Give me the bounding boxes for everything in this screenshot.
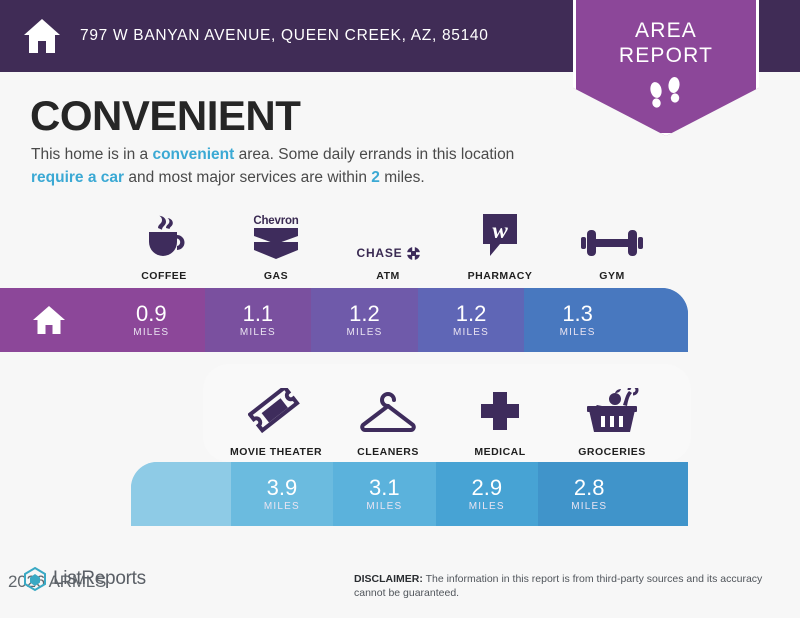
distance-value: 1.2 <box>349 302 380 325</box>
amenity-groceries: GROCERIES <box>556 388 668 458</box>
amenity-label: COFFEE <box>141 270 187 282</box>
coffee-cup-icon <box>138 212 190 260</box>
band-end-spacer-2 <box>640 462 688 526</box>
house-icon <box>32 304 66 336</box>
listreports-logo-text: ListReports <box>53 568 146 590</box>
property-address: 797 W BANYAN AVENUE, QUEEN CREEK, AZ, 85… <box>80 27 489 45</box>
distance-value: 3.9 <box>267 476 298 499</box>
distance-value: 3.1 <box>369 476 400 499</box>
summary-part-2: area. Some daily errands in this locatio… <box>234 146 514 163</box>
movie-ticket-icon <box>248 388 304 436</box>
page-title: CONVENIENT <box>30 92 300 140</box>
area-report-badge: AREA REPORT <box>573 0 759 136</box>
medical-cross-icon <box>477 388 523 436</box>
distance-cell-pharmacy: 1.2 MILES <box>418 288 525 352</box>
amenity-label: GROCERIES <box>578 446 646 458</box>
distance-cell-movie-theater: 3.9 MILES <box>231 462 333 526</box>
amenity-cleaners: CLEANERS <box>332 388 444 458</box>
chevron-logo-icon: Chevron <box>250 212 302 260</box>
amenity-medical: MEDICAL <box>444 388 556 458</box>
disclaimer: DISCLAIMER: The information in this repo… <box>354 572 784 600</box>
band-end-spacer <box>631 288 688 352</box>
dumbbell-icon <box>581 212 643 260</box>
band-start-spacer <box>131 462 231 526</box>
badge-line-2: REPORT <box>619 43 713 68</box>
distance-unit: MILES <box>453 327 489 338</box>
amenity-label: ATM <box>376 270 399 282</box>
coat-hanger-icon <box>357 388 419 436</box>
distance-value: 2.8 <box>574 476 605 499</box>
amenity-label: GAS <box>264 270 288 282</box>
amenity-label: GYM <box>599 270 624 282</box>
amenity-icons-row-2: MOVIE THEATER CLEANERS MEDICAL <box>220 388 668 458</box>
footprints-icon <box>643 77 689 113</box>
house-icon <box>22 17 62 55</box>
summary-part-3: and most major services are within <box>124 169 371 186</box>
amenity-label: CLEANERS <box>357 446 419 458</box>
distance-unit: MILES <box>264 501 300 512</box>
distance-cell-medical: 2.9 MILES <box>436 462 538 526</box>
summary-part-4: miles. <box>380 169 425 186</box>
distance-value: 1.3 <box>562 302 593 325</box>
distance-unit: MILES <box>133 327 169 338</box>
area-report-infographic: 797 W BANYAN AVENUE, QUEEN CREEK, AZ, 85… <box>0 0 800 618</box>
walgreens-logo-icon: w <box>477 212 523 260</box>
amenity-coffee: COFFEE <box>108 212 220 282</box>
grocery-basket-icon <box>585 388 639 436</box>
summary-highlight-2: require a car <box>31 169 124 186</box>
disclaimer-label: DISCLAIMER: <box>354 573 423 585</box>
distance-unit: MILES <box>571 501 607 512</box>
distance-unit: MILES <box>469 501 505 512</box>
amenity-label: MEDICAL <box>474 446 525 458</box>
chevron-brand-text: Chevron <box>250 215 302 227</box>
band-home-cell <box>0 288 98 352</box>
chase-brand-text: CHASE <box>356 246 402 260</box>
listreports-logo: ListReports <box>22 566 146 592</box>
amenity-gas: Chevron GAS <box>220 212 332 282</box>
amenity-gym: GYM <box>556 212 668 282</box>
summary-part-1: This home is in a <box>31 146 152 163</box>
amenity-label: PHARMACY <box>468 270 533 282</box>
listreports-logo-icon <box>22 566 48 592</box>
distance-cell-groceries: 2.8 MILES <box>538 462 640 526</box>
distance-value: 1.1 <box>243 302 274 325</box>
distance-unit: MILES <box>240 327 276 338</box>
amenity-atm: CHASE ATM <box>332 212 444 282</box>
distance-cell-atm: 1.2 MILES <box>311 288 418 352</box>
summary-highlight-3: 2 <box>371 169 380 186</box>
amenity-label: MOVIE THEATER <box>230 446 322 458</box>
chase-logo-icon: CHASE <box>356 212 419 260</box>
summary-text: This home is in a convenient area. Some … <box>31 143 561 189</box>
distance-unit: MILES <box>366 501 402 512</box>
distance-cell-gym: 1.3 MILES <box>524 288 631 352</box>
distance-band-row-1: 0.9 MILES 1.1 MILES 1.2 MILES 1.2 MILES … <box>0 288 688 352</box>
distance-value: 0.9 <box>136 302 167 325</box>
distance-unit: MILES <box>560 327 596 338</box>
distance-band-row-2: 3.9 MILES 3.1 MILES 2.9 MILES 2.8 MILES <box>131 462 688 526</box>
svg-text:w: w <box>492 218 508 243</box>
badge-line-1: AREA <box>635 18 697 43</box>
summary-highlight-1: convenient <box>152 146 234 163</box>
distance-value: 2.9 <box>471 476 502 499</box>
distance-cell-coffee: 0.9 MILES <box>98 288 205 352</box>
distance-value: 1.2 <box>456 302 487 325</box>
distance-unit: MILES <box>346 327 382 338</box>
amenity-movie-theater: MOVIE THEATER <box>220 388 332 458</box>
distance-cell-gas: 1.1 MILES <box>205 288 312 352</box>
distance-cell-cleaners: 3.1 MILES <box>333 462 435 526</box>
amenity-icons-row-1: COFFEE Chevron GAS CHASE <box>108 212 668 282</box>
amenity-pharmacy: w PHARMACY <box>444 212 556 282</box>
